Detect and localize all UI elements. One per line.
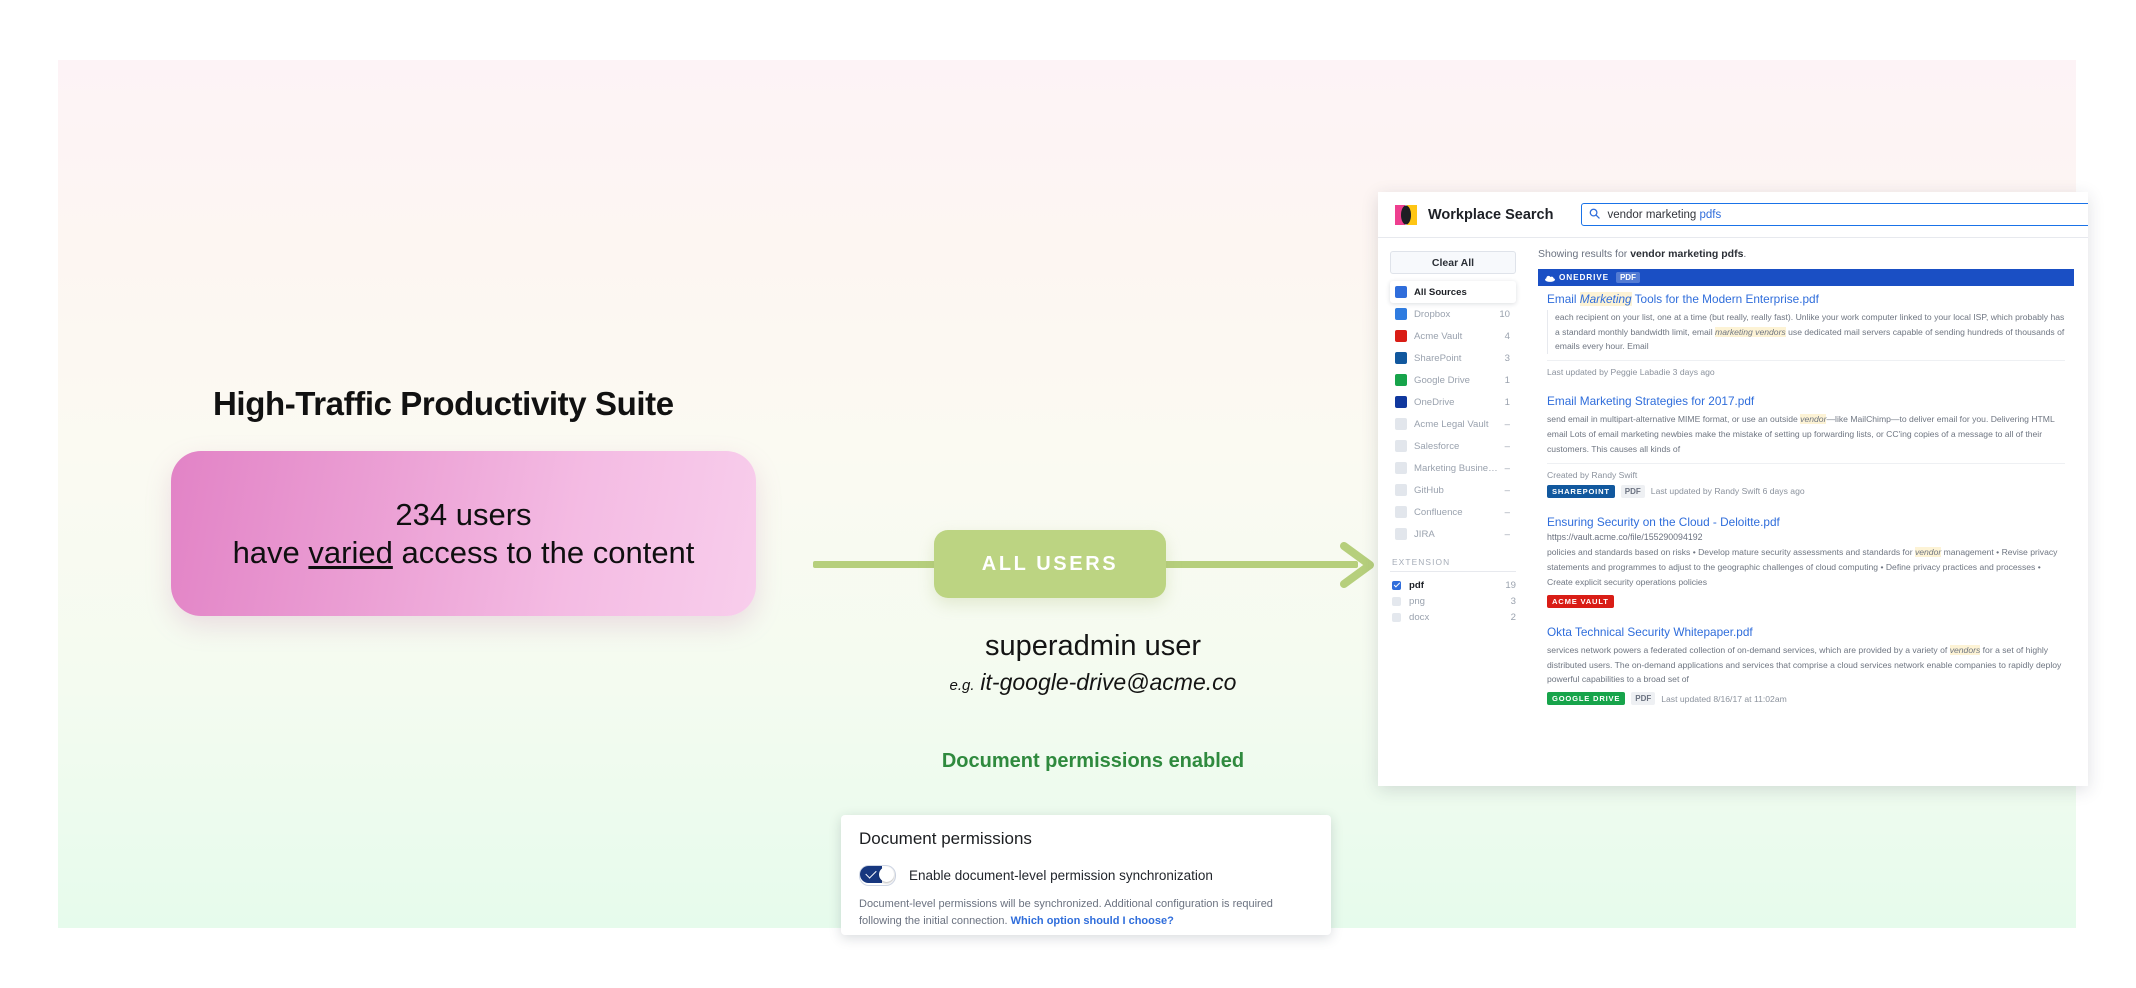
source-label: JIRA — [1414, 529, 1501, 540]
source-count: – — [1505, 529, 1510, 540]
source-filter-acme-legal-vault[interactable]: Acme Legal Vault– — [1390, 413, 1516, 435]
perm-toggle-label: Enable document-level permission synchro… — [909, 868, 1213, 883]
extension-label: docx — [1409, 612, 1511, 623]
extension-count: 3 — [1511, 596, 1516, 607]
result-title[interactable]: Email Marketing Tools for the Modern Ent… — [1547, 292, 2065, 308]
result-file-type-badge: PDF — [1621, 485, 1645, 498]
snippet-highlight: vendor — [1800, 414, 1826, 424]
result-card: Email Marketing Tools for the Modern Ent… — [1538, 286, 2074, 384]
showing-query: vendor marketing pdfs — [1630, 248, 1743, 260]
source-filter-onedrive[interactable]: OneDrive1 — [1390, 391, 1516, 413]
search-result[interactable]: Ensuring Security on the Cloud - Deloitt… — [1538, 509, 2074, 615]
all-users-label: ALL USERS — [982, 553, 1118, 576]
source-label: Acme Vault — [1414, 331, 1501, 342]
source-icon — [1395, 528, 1407, 540]
perm-card-title: Document permissions — [859, 829, 1313, 849]
source-count: – — [1505, 507, 1510, 518]
source-label: All Sources — [1414, 287, 1506, 298]
source-filter-github[interactable]: GitHub– — [1390, 479, 1516, 501]
title-pre: Email — [1547, 292, 1580, 306]
search-icon — [1589, 206, 1600, 224]
source-count: 1 — [1505, 397, 1510, 408]
search-input[interactable]: vendor marketing pdfs — [1581, 203, 2088, 226]
extension-filter-png[interactable]: png3 — [1390, 593, 1516, 609]
snippet-highlight: marketing vendors — [1715, 327, 1786, 337]
search-query-value: vendor marketing pdfs — [1607, 209, 1721, 221]
title-pre: Ensuring Security on the Cloud - Deloitt… — [1547, 515, 1780, 529]
extension-count: 19 — [1505, 580, 1516, 591]
extension-label: pdf — [1409, 580, 1505, 591]
result-list: ONEDRIVEPDFEmail Marketing Tools for the… — [1538, 269, 2074, 712]
source-label: Google Drive — [1414, 375, 1501, 386]
source-count: 1 — [1505, 375, 1510, 386]
result-snippet: services network powers a federated coll… — [1547, 643, 2065, 687]
result-meta: Created by Randy Swift — [1547, 463, 2065, 480]
result-source-banner: ONEDRIVEPDF — [1538, 269, 2074, 286]
eg-prefix: e.g. — [950, 677, 975, 694]
source-icon — [1395, 352, 1407, 364]
banner-source-name: ONEDRIVE — [1559, 273, 1609, 282]
title-pre: Okta Technical Security Whitepaper.pdf — [1547, 625, 1753, 639]
eg-address: it-google-drive@acme.co — [980, 669, 1236, 695]
source-count: 3 — [1505, 353, 1510, 364]
access-pre: have — [233, 535, 309, 570]
showing-results-text: Showing results for vendor marketing pdf… — [1538, 248, 2074, 260]
perm-toggle-row[interactable]: Enable document-level permission synchro… — [859, 865, 1313, 886]
result-url: https://vault.acme.co/file/155290094192 — [1547, 532, 2065, 542]
source-filter-dropbox[interactable]: Dropbox10 — [1390, 303, 1516, 325]
source-icon — [1395, 462, 1407, 474]
extension-count: 2 — [1511, 612, 1516, 623]
query-highlight: pdfs — [1700, 209, 1722, 221]
access-post: access to the content — [393, 535, 695, 570]
perm-description: Document-level permissions will be synch… — [859, 896, 1313, 930]
source-icon — [1395, 308, 1407, 320]
snippet-part-1: services network powers a federated coll… — [1547, 645, 1950, 655]
result-snippet: send email in multipart-alternative MIME… — [1547, 412, 2065, 456]
filters-sidebar: Clear All All SourcesDropbox10Acme Vault… — [1378, 238, 1526, 786]
which-option-link[interactable]: Which option should I choose? — [1011, 915, 1174, 927]
source-filter-sharepoint[interactable]: SharePoint3 — [1390, 347, 1516, 369]
query-plain: vendor marketing — [1607, 209, 1699, 221]
page-title: High-Traffic Productivity Suite — [213, 385, 773, 423]
snippet-part-1: policies and standards based on risks • … — [1547, 547, 1915, 557]
source-filter-salesforce[interactable]: Salesforce– — [1390, 435, 1516, 457]
divider — [1390, 571, 1516, 572]
toggle-knob — [879, 867, 894, 882]
source-label: GitHub — [1414, 485, 1501, 496]
access-underlined: varied — [308, 535, 392, 570]
source-label: Acme Legal Vault — [1414, 419, 1501, 430]
users-summary-card: 234 users have varied access to the cont… — [171, 451, 756, 616]
document-permissions-card: Document permissions Enable document-lev… — [841, 815, 1331, 935]
result-card: Okta Technical Security Whitepaper.pdfse… — [1538, 619, 2074, 712]
result-title[interactable]: Email Marketing Strategies for 2017.pdf — [1547, 394, 2065, 410]
result-title[interactable]: Okta Technical Security Whitepaper.pdf — [1547, 625, 2065, 641]
source-count: – — [1505, 463, 1510, 474]
clear-all-button[interactable]: Clear All — [1390, 251, 1516, 274]
source-filter-all-sources[interactable]: All Sources — [1390, 281, 1516, 303]
source-filter-google-drive[interactable]: Google Drive1 — [1390, 369, 1516, 391]
title-pre: Email Marketing Strategies for 2017.pdf — [1547, 394, 1754, 408]
snippet-part-1: send email in multipart-alternative MIME… — [1547, 414, 1800, 424]
permission-sync-toggle[interactable] — [859, 865, 896, 886]
banner-file-type-badge: PDF — [1616, 272, 1640, 283]
all-users-pill: ALL USERS — [934, 530, 1166, 598]
source-count: – — [1505, 485, 1510, 496]
result-title[interactable]: Ensuring Security on the Cloud - Deloitt… — [1547, 515, 2065, 531]
source-filter-list: All SourcesDropbox10Acme Vault4SharePoin… — [1390, 281, 1516, 545]
source-icon — [1395, 330, 1407, 342]
result-footer-text: Last updated 8/16/17 at 11:02am — [1661, 694, 1787, 704]
source-label: OneDrive — [1414, 397, 1501, 408]
source-filter-marketing-business-re[interactable]: Marketing Business Re...– — [1390, 457, 1516, 479]
superadmin-title: superadmin user — [813, 630, 1373, 663]
app-title: Workplace Search — [1428, 207, 1553, 223]
app-header: Workplace Search vendor marketing pdfs — [1378, 192, 2088, 238]
checkbox[interactable] — [1392, 613, 1401, 622]
source-icon — [1395, 440, 1407, 452]
checkbox[interactable] — [1392, 581, 1401, 590]
flow-arrow: ALL USERS — [813, 530, 1373, 598]
extension-filter-list: pdf19png3docx2 — [1390, 577, 1516, 625]
result-footer: SHAREPOINTPDFLast updated by Randy Swift… — [1547, 485, 2065, 498]
source-count: – — [1505, 441, 1510, 452]
source-count: 4 — [1505, 331, 1510, 342]
extension-filter-pdf[interactable]: pdf19 — [1390, 577, 1516, 593]
source-count: 10 — [1499, 309, 1510, 320]
snippet-highlight: vendors — [1950, 645, 1981, 655]
showing-suffix: . — [1743, 248, 1746, 260]
source-label: Confluence — [1414, 507, 1501, 518]
source-label: Marketing Business Re... — [1414, 463, 1501, 474]
source-count: – — [1505, 419, 1510, 430]
search-result[interactable]: Okta Technical Security Whitepaper.pdfse… — [1538, 619, 2074, 712]
title-highlight: Marketing — [1580, 292, 1632, 306]
showing-prefix: Showing results for — [1538, 248, 1630, 260]
users-access-text: have varied access to the content — [233, 534, 695, 572]
checkbox[interactable] — [1392, 597, 1401, 606]
source-filter-jira[interactable]: JIRA– — [1390, 523, 1516, 545]
extension-label: png — [1409, 596, 1511, 607]
workplace-search-app: Workplace Search vendor marketing pdfs C… — [1378, 192, 2088, 786]
snippet-highlight: vendor — [1915, 547, 1941, 557]
title-post: Tools for the Modern Enterprise.pdf — [1632, 292, 1819, 306]
search-result[interactable]: Email Marketing Strategies for 2017.pdfs… — [1538, 388, 2074, 504]
result-source-chip: ACME VAULT — [1547, 595, 1614, 608]
result-footer: ACME VAULT — [1547, 595, 2065, 608]
example-address-line: e.g. it-google-drive@acme.co — [813, 669, 1373, 696]
result-meta: Last updated by Peggie Labadie 3 days ag… — [1547, 360, 2065, 377]
source-filter-acme-vault[interactable]: Acme Vault4 — [1390, 325, 1516, 347]
result-card: Email Marketing Strategies for 2017.pdfs… — [1538, 388, 2074, 504]
workplace-search-logo-icon — [1394, 204, 1418, 226]
source-icon — [1395, 286, 1407, 298]
result-footer: GOOGLE DRIVEPDFLast updated 8/16/17 at 1… — [1547, 692, 2065, 705]
doc-permissions-status: Document permissions enabled — [813, 750, 1373, 773]
result-snippet: policies and standards based on risks • … — [1547, 545, 2065, 589]
extension-section-header: EXTENSION — [1392, 557, 1516, 567]
source-label: SharePoint — [1414, 353, 1501, 364]
result-file-type-badge: PDF — [1631, 692, 1655, 705]
users-count-text: 234 users — [395, 496, 531, 534]
result-snippet: each recipient on your list, one at a ti… — [1547, 310, 2065, 354]
source-filter-confluence[interactable]: Confluence– — [1390, 501, 1516, 523]
source-icon — [1395, 396, 1407, 408]
results-panel: Showing results for vendor marketing pdf… — [1526, 238, 2088, 786]
source-icon — [1395, 506, 1407, 518]
app-body: Clear All All SourcesDropbox10Acme Vault… — [1378, 238, 2088, 786]
result-source-chip: SHAREPOINT — [1547, 485, 1615, 498]
result-card: Ensuring Security on the Cloud - Deloitt… — [1538, 509, 2074, 615]
source-label: Dropbox — [1414, 309, 1495, 320]
source-icon — [1395, 484, 1407, 496]
center-caption: superadmin user e.g. it-google-drive@acm… — [813, 630, 1373, 696]
extension-filter-docx[interactable]: docx2 — [1390, 609, 1516, 625]
source-label: Salesforce — [1414, 441, 1501, 452]
result-footer-text: Last updated by Randy Swift 6 days ago — [1651, 486, 1805, 496]
source-icon — [1395, 418, 1407, 430]
result-source-chip: GOOGLE DRIVE — [1547, 692, 1625, 705]
search-result[interactable]: ONEDRIVEPDFEmail Marketing Tools for the… — [1538, 269, 2074, 384]
left-section: High-Traffic Productivity Suite 234 user… — [213, 385, 773, 616]
cloud-icon — [1545, 269, 1559, 287]
source-icon — [1395, 374, 1407, 386]
